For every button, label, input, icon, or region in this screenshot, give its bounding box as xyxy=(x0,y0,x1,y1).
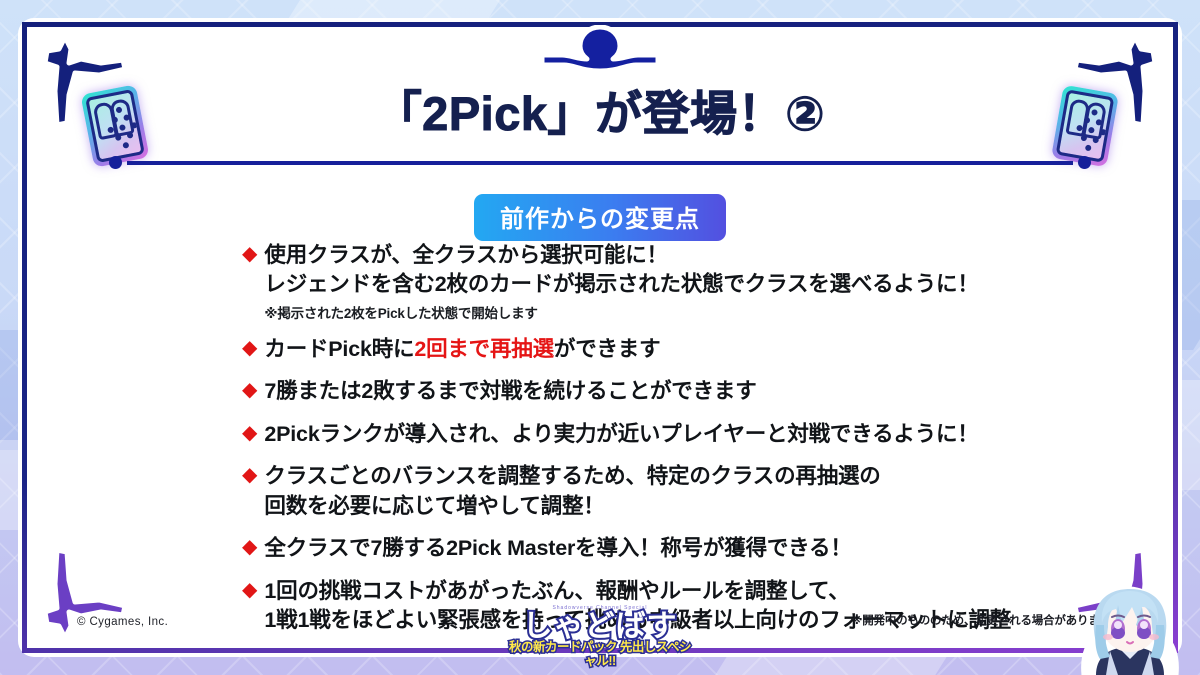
content-frame: 「2Pick」が登場！② 前作からの変更点 ◆使用クラスが、全クラスから選択可能… xyxy=(22,22,1178,653)
content-frame-inner: 「2Pick」が登場！② 前作からの変更点 ◆使用クラスが、全クラスから選択可能… xyxy=(27,27,1173,648)
list-item-line: レジェンドを含む2枚のカードが掲示された状態でクラスを選べるように！ xyxy=(264,270,1113,299)
diamond-bullet-icon: ◆ xyxy=(242,335,257,364)
chibi-character-icon xyxy=(1066,563,1194,675)
logo-subtitle: 秋の新カードパック 先出しスペシャル!! xyxy=(508,640,692,668)
highlighted-text: 2回まで再抽選 xyxy=(414,337,554,361)
divider-dot-left xyxy=(109,156,122,169)
list-item: ◆使用クラスが、全クラスから選択可能に！レジェンドを含む2枚のカードが掲示された… xyxy=(242,241,1113,322)
diamond-bullet-icon: ◆ xyxy=(242,420,257,449)
list-item-note: ※掲示された2枚をPickした状態で開始します xyxy=(264,302,1113,322)
list-item-line: 全クラスで7勝する2Pick Masterを導入！称号が獲得できる！ xyxy=(264,534,1113,563)
list-item: ◆7勝または2敗するまで対戦を続けることができます xyxy=(242,377,1113,406)
divider-bar xyxy=(127,161,1073,165)
diamond-bullet-icon: ◆ xyxy=(242,377,257,406)
list-item-line: カードPick時に2回まで再抽選ができます xyxy=(264,335,1113,364)
list-item-lines: 全クラスで7勝する2Pick Masterを導入！称号が獲得できる！ xyxy=(264,534,1113,563)
list-item: ◆カードPick時に2回まで再抽選ができます xyxy=(242,335,1113,364)
list-item: ◆全クラスで7勝する2Pick Masterを導入！称号が獲得できる！ xyxy=(242,534,1113,563)
list-item-line: 1回の挑戦コストがあがったぶん、報酬やルールを調整して、 xyxy=(264,577,1113,606)
program-logo: Shadowverse Channel Special しゃどばす 秋の新カード… xyxy=(508,605,692,675)
divider-dot-right xyxy=(1078,156,1091,169)
plain-text: カードPick時に xyxy=(264,337,414,361)
page-title: 「2Pick」が登場！② xyxy=(27,75,1173,144)
diamond-bullet-icon: ◆ xyxy=(242,534,257,563)
diamond-bullet-icon: ◆ xyxy=(242,241,257,322)
list-item-line: 7勝または2敗するまで対戦を続けることができます xyxy=(264,377,1113,406)
copyright-text: © Cygames, Inc. xyxy=(77,616,168,628)
list-item-lines: 使用クラスが、全クラスから選択可能に！レジェンドを含む2枚のカードが掲示された状… xyxy=(264,241,1113,322)
list-item-lines: 7勝または2敗するまで対戦を続けることができます xyxy=(264,377,1113,406)
top-ornament-icon xyxy=(540,25,660,79)
list-item: ◆2Pickランクが導入され、より実力が近いプレイヤーと対戦できるように！ xyxy=(242,420,1113,449)
list-item-lines: クラスごとのバランスを調整するため、特定のクラスの再抽選の回数を必要に応じて増や… xyxy=(264,462,1113,521)
section-badge: 前作からの変更点 xyxy=(474,194,726,241)
list-item-line: 回数を必要に応じて増やして調整！ xyxy=(264,492,1113,521)
diamond-bullet-icon: ◆ xyxy=(242,577,257,636)
title-divider xyxy=(105,155,1095,171)
list-item-lines: カードPick時に2回まで再抽選ができます xyxy=(264,335,1113,364)
list-item-line: 使用クラスが、全クラスから選択可能に！ xyxy=(264,241,1113,270)
plain-text: ができます xyxy=(554,337,661,361)
changes-list: ◆使用クラスが、全クラスから選択可能に！レジェンドを含む2枚のカードが掲示された… xyxy=(242,241,1113,649)
list-item-lines: 2Pickランクが導入され、より実力が近いプレイヤーと対戦できるように！ xyxy=(264,420,1113,449)
list-item-line: 2Pickランクが導入され、より実力が近いプレイヤーと対戦できるように！ xyxy=(264,420,1113,449)
diamond-bullet-icon: ◆ xyxy=(242,462,257,521)
logo-main-text: しゃどばす xyxy=(508,612,692,642)
list-item-line: クラスごとのバランスを調整するため、特定のクラスの再抽選の xyxy=(264,462,1113,491)
list-item: ◆クラスごとのバランスを調整するため、特定のクラスの再抽選の回数を必要に応じて増… xyxy=(242,462,1113,521)
